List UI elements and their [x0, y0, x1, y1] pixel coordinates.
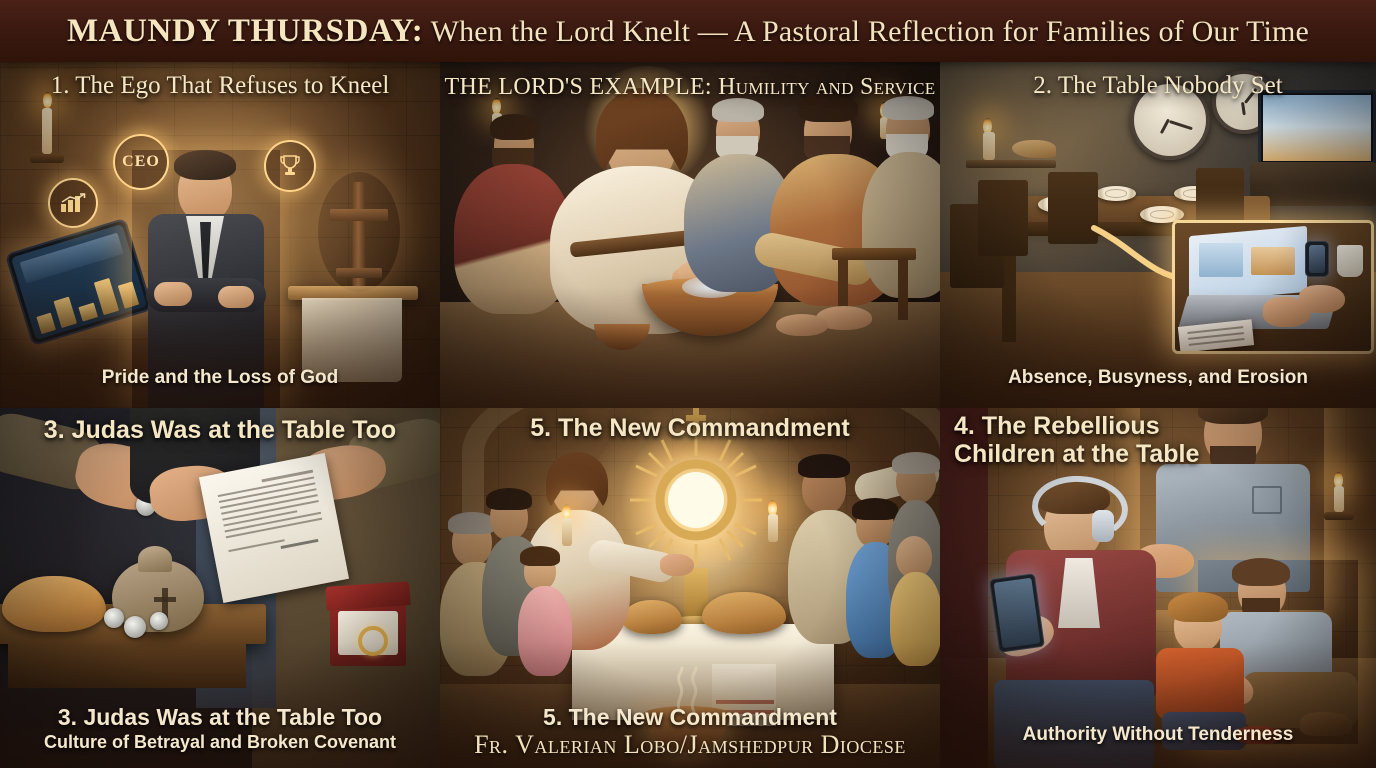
panel-5-caption-title: 5. The New Commandment	[440, 704, 940, 731]
family-right-group	[792, 436, 940, 676]
credit-line: Fr. Valerian Lobo/Jamshedpur Diocese	[440, 730, 940, 760]
page-title: MAUNDY THURSDAY: When the Lord Knelt — A…	[67, 13, 1309, 50]
wedding-ring-box	[330, 604, 406, 666]
laptop-chart-left	[1199, 243, 1243, 277]
stool-leg-right	[898, 258, 908, 320]
coin-1	[104, 608, 124, 628]
wall-shelf	[966, 160, 1056, 168]
typing-hand-right	[1299, 285, 1345, 313]
headphone-earcup	[1092, 510, 1114, 542]
panel-2-heading: THE LORD'S EXAMPLE: Humility and Service	[440, 74, 940, 101]
loaf-of-bread	[2, 576, 106, 632]
panel-new-commandment[interactable]: 5. The New Commandment 5. The New Comman…	[440, 408, 940, 768]
panel-1-caption: Pride and the Loss of God	[0, 367, 440, 389]
title-banner: MAUNDY THURSDAY: When the Lord Knelt — A…	[0, 0, 1376, 62]
panel-6-heading: 4. The Rebellious Children at the Table	[940, 412, 1199, 468]
cross-glow	[318, 172, 400, 292]
decor-bowl	[1012, 140, 1056, 158]
coffee-mug	[1337, 245, 1363, 277]
table-side	[8, 644, 246, 688]
page-title-rest: When the Lord Knelt — A Pastoral Reflect…	[423, 15, 1309, 48]
panel-table-nobody-set[interactable]: 2. The Table Nobody Set Absence, Busynes…	[940, 62, 1376, 408]
panel-rebellious-children[interactable]: 4. The Rebellious Children at the Table …	[940, 408, 1376, 768]
poster-root: MAUNDY THURSDAY: When the Lord Knelt — A…	[0, 0, 1376, 768]
trophy-icon	[279, 154, 301, 178]
agreement-document	[199, 453, 349, 603]
coin-2	[124, 616, 146, 638]
child-shirt	[1156, 648, 1244, 720]
television	[1258, 90, 1376, 166]
panel-6-caption: Authority Without Tenderness	[940, 724, 1376, 746]
panel-judas-at-the-table[interactable]: 3. Judas Was at the Table Too 3. Judas W…	[0, 408, 440, 768]
panel-4-caption-title: 3. Judas Was at the Table Too	[0, 704, 440, 731]
speech-bubble-growth-chart	[48, 178, 98, 228]
panel-lords-example[interactable]: THE LORD'S EXAMPLE: Humility and Service	[440, 62, 940, 408]
bare-foot-right	[776, 314, 828, 336]
panel-4-heading: 3. Judas Was at the Table Too	[0, 416, 440, 445]
panel-6-heading-line1: 4. The Rebellious	[954, 412, 1199, 440]
panel-6-heading-line2: Children at the Table	[954, 440, 1199, 468]
page-title-caps: MAUNDY THURSDAY:	[67, 13, 423, 49]
panel-5-heading: 5. The New Commandment	[440, 414, 940, 443]
bread-loaf-right	[702, 592, 786, 634]
bar-chart-icon	[60, 193, 86, 213]
chair-back-mid	[978, 180, 1028, 256]
panel-grid: CEO	[0, 62, 1376, 768]
panel-ego-refuses-to-kneel[interactable]: CEO	[0, 62, 440, 408]
family-left-group	[446, 492, 566, 672]
inset-laptop-scene	[1172, 220, 1374, 354]
panel-3-caption: Absence, Busyness, and Erosion	[940, 367, 1376, 389]
panel-3-heading: 2. The Table Nobody Set	[940, 72, 1376, 100]
desk-smartphone	[1305, 241, 1329, 277]
money-bag-neck	[138, 546, 172, 572]
laptop-chart-right	[1251, 247, 1295, 275]
panel-1-heading: 1. The Ego That Refuses to Kneel	[0, 72, 440, 100]
coin-3	[150, 612, 168, 630]
plate-2	[1096, 186, 1136, 201]
panel-4-caption: Culture of Betrayal and Broken Covenant	[0, 732, 440, 753]
